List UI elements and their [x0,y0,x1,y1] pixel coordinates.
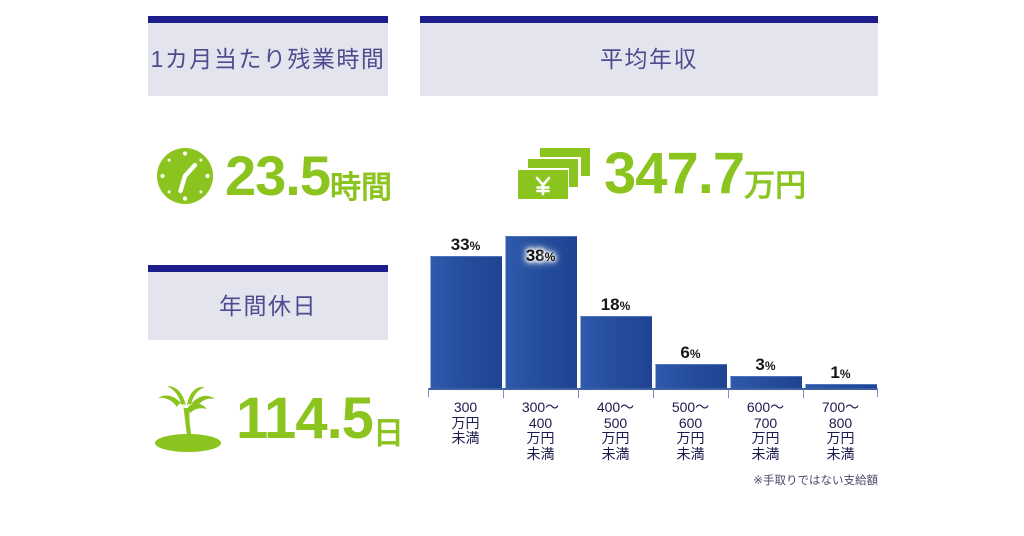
bar [655,364,727,388]
bar-value-label: 6% [654,344,728,361]
axis-tick [653,389,654,398]
chart-category-label: 400〜500万円未満 [579,400,653,463]
bar-value-label: 33% [429,236,503,253]
panel-title-holiday: 年間休日 [219,295,317,318]
chart-category-label: 700〜800万円未満 [804,400,878,463]
stat-unit-income: 万円 [744,170,806,204]
stat-unit-overtime: 時間 [330,172,392,206]
bar-value-label: 38% [504,247,578,264]
header-box: 年間休日 [148,272,388,340]
bar-column: 6% [654,228,728,388]
stat-income: 347.7 万円 [516,144,806,204]
panel-header-holiday: 年間休日 [148,265,388,340]
panel-title-income: 平均年収 [600,48,698,71]
axis-tick [728,389,729,398]
stat-unit-holiday: 日 [373,418,404,452]
bar-column: 18% [579,228,653,388]
infographic-root: 1カ月当たり残業時間 23.5 時間 年間休日 [0,0,1024,536]
chart-footnote: ※手取りではない支給額 [698,472,878,488]
chart-category-label: 300〜400万円未満 [504,400,578,463]
stat-holiday: 114.5 日 [152,386,404,452]
chart-category-label: 600〜700万円未満 [729,400,803,463]
stat-value-holiday: 114.5 [236,390,373,448]
clock-icon [155,146,215,206]
header-box: 1カ月当たり残業時間 [148,23,388,96]
header-rule [420,16,878,23]
header-rule [148,16,388,23]
axis-tick [578,389,579,398]
header-rule [148,265,388,272]
bar-column: 1% [804,228,878,388]
bar [430,256,502,388]
chart-plot-area: 33%38%18%6%3%1% [428,228,878,388]
axis-tick [503,389,504,398]
bar [580,316,652,388]
palm-tree-island-icon [152,386,224,452]
stat-value-income: 347.7 [604,145,744,203]
panel-title-overtime: 1カ月当たり残業時間 [151,48,386,71]
panel-header-overtime: 1カ月当たり残業時間 [148,16,388,96]
panel-header-income: 平均年収 [420,16,878,96]
money-bills-yen-icon [516,144,594,204]
bar-column: 3% [729,228,803,388]
bar-column: 33% [429,228,503,388]
bar-value-label: 18% [579,296,653,313]
stat-value-overtime: 23.5 [225,148,330,204]
chart-category-labels: 300万円未満300〜400万円未満400〜500万円未満500〜600万円未満… [428,400,878,470]
chart-category-label: 500〜600万円未満 [654,400,728,463]
header-box: 平均年収 [420,23,878,96]
stat-overtime: 23.5 時間 [155,146,392,206]
chart-category-label: 300万円未満 [429,400,503,447]
bar-column: 38% [504,228,578,388]
axis-tick [803,389,804,398]
income-distribution-bar-chart: 33%38%18%6%3%1% 300万円未満300〜400万円未満400〜50… [428,228,878,493]
bar-value-label: 3% [729,356,803,373]
bar-value-label: 1% [804,364,878,381]
bar [730,376,802,388]
